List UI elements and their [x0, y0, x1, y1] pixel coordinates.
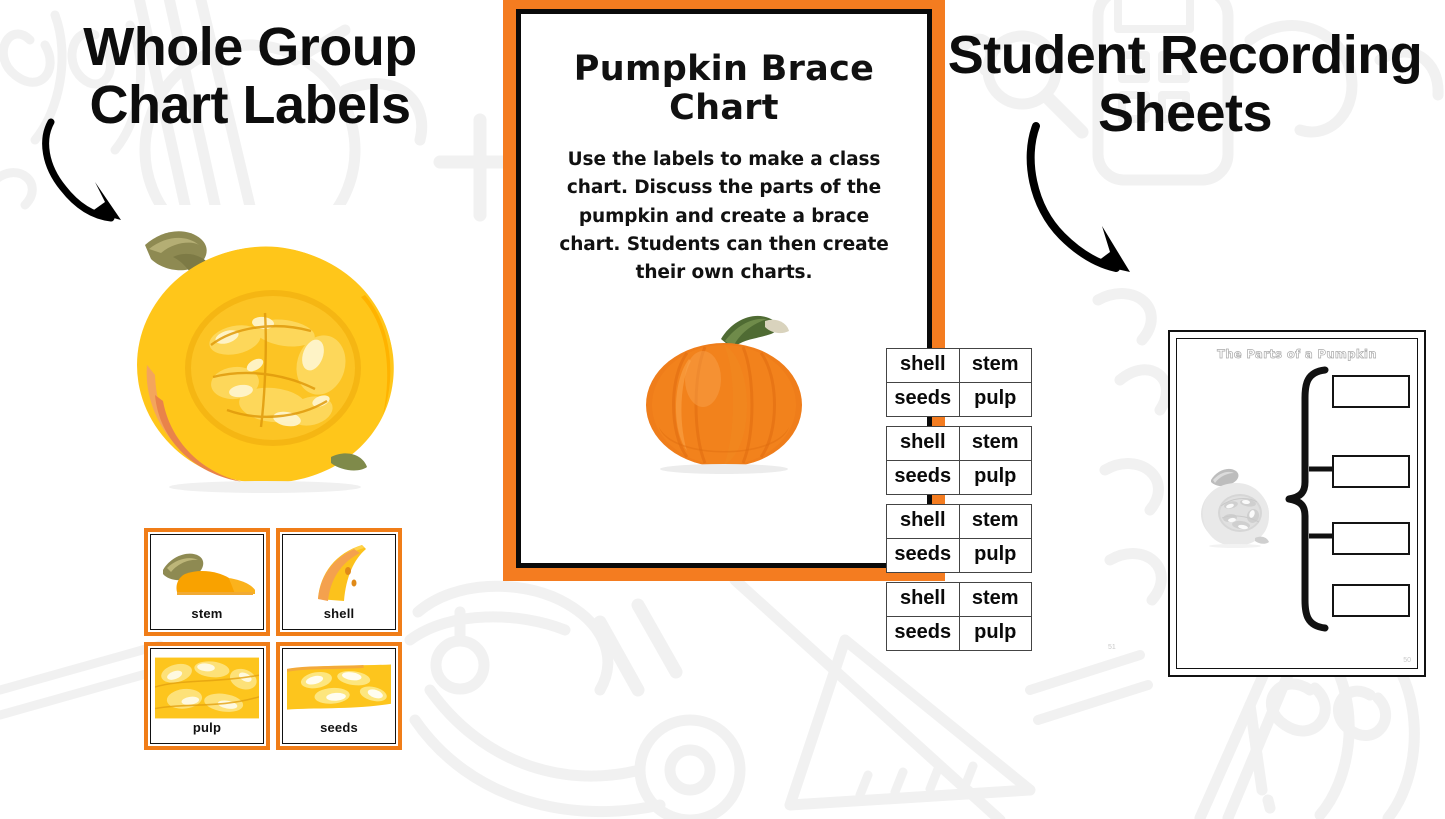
word-cell[interactable]: stem	[959, 427, 1032, 461]
whole-pumpkin-photo	[629, 309, 819, 474]
page-number: 50	[1403, 657, 1411, 664]
poster-title-line2: Chart	[669, 88, 779, 128]
word-cell[interactable]: shell	[887, 505, 960, 539]
word-cell[interactable]: pulp	[959, 461, 1032, 495]
word-table[interactable]: shell stem seeds pulp	[886, 582, 1032, 651]
pumpkin-brace-chart-poster[interactable]: Pumpkin Brace Chart Use the labels to ma…	[503, 0, 945, 581]
heading-student-recording-sheets: Student Recording Sheets	[930, 26, 1440, 143]
label-card-shell[interactable]: shell	[276, 528, 402, 636]
table-row: shell stem	[887, 583, 1032, 617]
label-card-text: stem	[191, 606, 222, 624]
word-table[interactable]: shell stem seeds pulp	[886, 504, 1032, 573]
label-card-stem[interactable]: stem	[144, 528, 270, 636]
recording-sheet-title: The Parts of a Pumpkin	[1177, 347, 1417, 361]
label-card-text: pulp	[193, 720, 221, 738]
grayscale-pumpkin-image	[1193, 464, 1277, 548]
word-cell[interactable]: seeds	[887, 539, 960, 573]
word-cell[interactable]: shell	[887, 427, 960, 461]
answer-box-3[interactable]	[1332, 522, 1410, 555]
table-row: seeds pulp	[887, 383, 1032, 417]
arrow-to-recording-sheets-icon	[1018, 120, 1158, 285]
label-card-pulp[interactable]: pulp	[144, 642, 270, 750]
student-recording-sheet[interactable]: The Parts of a Pumpkin	[1168, 330, 1426, 677]
answer-box-2[interactable]	[1332, 455, 1410, 488]
label-card-seeds[interactable]: seeds	[276, 642, 402, 750]
table-row: shell stem	[887, 427, 1032, 461]
pumpkin-seeds-icon	[287, 656, 391, 720]
word-cell[interactable]: stem	[959, 349, 1032, 383]
poster-title-line1: Pumpkin Brace	[574, 49, 874, 89]
arrow-to-chart-labels-icon	[35, 118, 165, 230]
word-cell[interactable]: shell	[887, 583, 960, 617]
answer-box-1[interactable]	[1332, 375, 1410, 408]
table-row: seeds pulp	[887, 539, 1032, 573]
word-cell[interactable]: pulp	[959, 539, 1032, 573]
word-cell[interactable]: seeds	[887, 461, 960, 495]
table-row: seeds pulp	[887, 617, 1032, 651]
label-card-text: seeds	[320, 720, 358, 738]
poster-title: Pumpkin Brace Chart	[574, 50, 874, 128]
word-cell[interactable]: seeds	[887, 383, 960, 417]
word-cell[interactable]: seeds	[887, 617, 960, 651]
pumpkin-stem-icon	[155, 542, 259, 606]
page-number-previous-sheet: 51	[1108, 644, 1116, 651]
pumpkin-shell-icon	[287, 542, 391, 606]
word-cell[interactable]: stem	[959, 505, 1032, 539]
word-label-tables: shell stem seeds pulp shell stem seeds p…	[886, 348, 1032, 660]
word-table[interactable]: shell stem seeds pulp	[886, 348, 1032, 417]
word-cell[interactable]: pulp	[959, 383, 1032, 417]
halved-pumpkin-photo	[115, 205, 405, 495]
answer-box-4[interactable]	[1332, 584, 1410, 617]
pumpkin-pulp-icon	[155, 656, 259, 720]
word-cell[interactable]: shell	[887, 349, 960, 383]
poster-body-text: Use the labels to make a class chart. Di…	[547, 146, 901, 287]
table-row: seeds pulp	[887, 461, 1032, 495]
label-card-text: shell	[324, 606, 355, 624]
word-table[interactable]: shell stem seeds pulp	[886, 426, 1032, 495]
slide-canvas: Whole Group Chart Labels	[0, 0, 1445, 819]
word-cell[interactable]: pulp	[959, 617, 1032, 651]
chart-label-cards: stem shell	[144, 528, 402, 750]
table-row: shell stem	[887, 349, 1032, 383]
word-cell[interactable]: stem	[959, 583, 1032, 617]
table-row: shell stem	[887, 505, 1032, 539]
